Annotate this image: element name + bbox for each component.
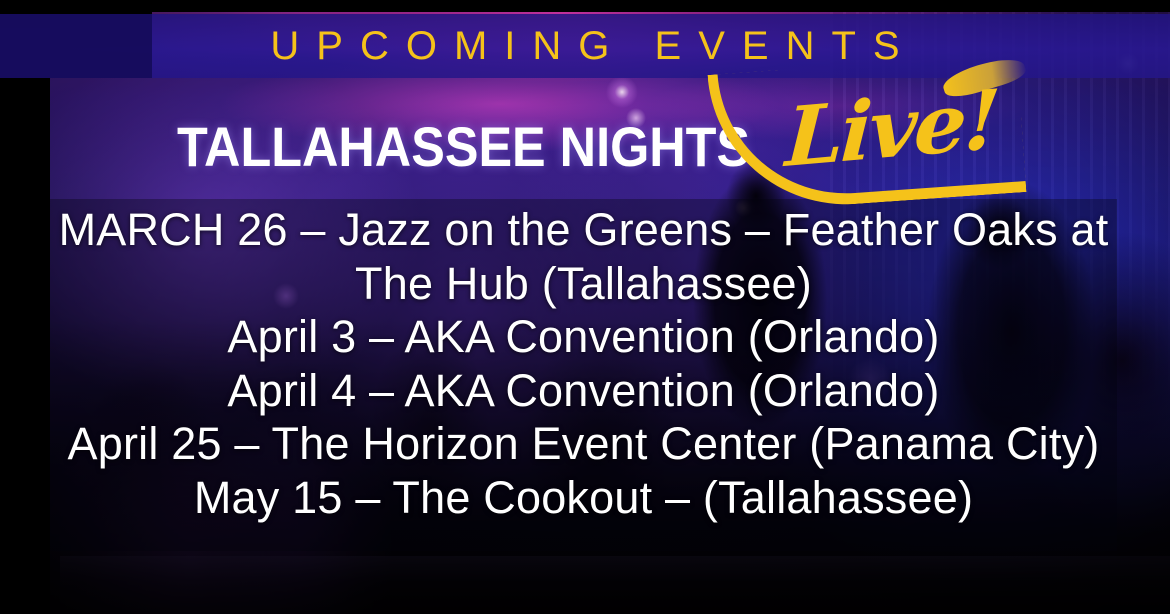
event-line: MARCH 26 – Jazz on the Greens – Feather … <box>50 203 1117 310</box>
bottom-light-shelf <box>60 556 1170 614</box>
bottom-black-matte <box>0 0 1170 12</box>
event-list: MARCH 26 – Jazz on the Greens – Feather … <box>50 203 1117 524</box>
event-line: April 3 – AKA Convention (Orlando) <box>50 310 1117 364</box>
event-poster: UPCOMING EVENTS TALLAHASSEE NIGHTS Live!… <box>0 0 1170 614</box>
brand-name: TALLAHASSEE NIGHTS <box>177 117 750 177</box>
brand-script-live: Live! <box>784 85 999 173</box>
brand-lockup: TALLAHASSEE NIGHTS Live! <box>0 92 1170 188</box>
page-title: UPCOMING EVENTS <box>0 18 1170 74</box>
event-line: April 4 – AKA Convention (Orlando) <box>50 364 1117 418</box>
top-left-black-matte <box>0 0 152 14</box>
event-line: May 15 – The Cookout – (Tallahassee) <box>50 471 1117 525</box>
event-line: April 25 – The Horizon Event Center (Pan… <box>50 417 1117 471</box>
